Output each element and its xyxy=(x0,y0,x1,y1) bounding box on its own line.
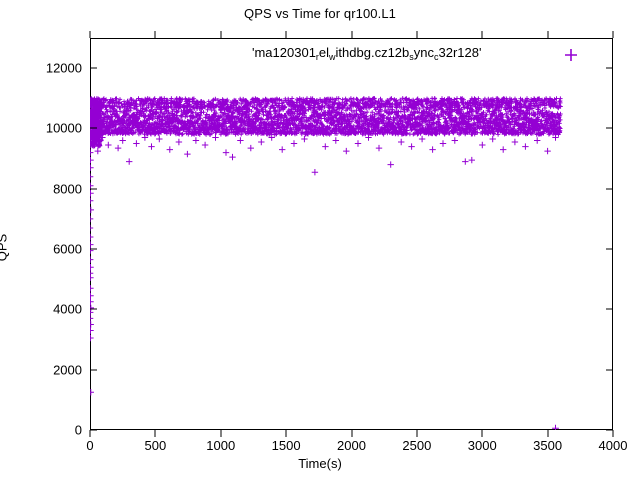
chart-title: QPS vs Time for qr100.L1 xyxy=(0,6,640,21)
x-tick-mark xyxy=(613,430,614,437)
x-tick-mark xyxy=(220,430,221,437)
x-tick-label: 1000 xyxy=(206,438,235,453)
y-axis-label: QPS xyxy=(0,234,10,261)
gnuplot-canvas: QPS vs Time for qr100.L1 020004000600080… xyxy=(0,0,640,480)
y-tick-mark xyxy=(90,430,97,431)
y-tick-mark xyxy=(90,68,97,69)
y-tick-mark xyxy=(90,188,97,189)
x-tick-mark xyxy=(547,31,548,38)
x-tick-mark xyxy=(482,31,483,38)
x-tick-mark xyxy=(90,430,91,437)
x-tick-mark xyxy=(155,31,156,38)
x-tick-mark xyxy=(416,430,417,437)
y-tick-mark xyxy=(606,249,613,250)
x-tick-label: 1500 xyxy=(272,438,301,453)
y-tick-label: 8000 xyxy=(18,181,82,196)
x-tick-label: 3000 xyxy=(468,438,497,453)
x-tick-label: 4000 xyxy=(599,438,628,453)
y-tick-mark xyxy=(606,309,613,310)
y-tick-mark xyxy=(606,128,613,129)
x-tick-mark xyxy=(90,31,91,38)
x-tick-mark xyxy=(286,31,287,38)
y-axis-tick-labels: 020004000600080001000012000 xyxy=(0,38,82,430)
y-tick-label: 4000 xyxy=(18,302,82,317)
x-tick-label: 2000 xyxy=(337,438,366,453)
y-tick-mark xyxy=(90,309,97,310)
scatter-data-layer xyxy=(90,38,613,430)
y-tick-mark xyxy=(606,68,613,69)
x-axis-label: Time(s) xyxy=(0,456,640,471)
y-tick-label: 10000 xyxy=(18,121,82,136)
x-tick-label: 2500 xyxy=(402,438,431,453)
y-tick-label: 12000 xyxy=(18,61,82,76)
x-tick-mark xyxy=(286,430,287,437)
y-tick-label: 6000 xyxy=(18,242,82,257)
x-tick-mark xyxy=(482,430,483,437)
y-tick-mark xyxy=(606,369,613,370)
y-tick-mark xyxy=(90,369,97,370)
x-tick-mark xyxy=(416,31,417,38)
x-tick-label: 500 xyxy=(145,438,167,453)
x-tick-label: 3500 xyxy=(533,438,562,453)
x-tick-mark xyxy=(613,31,614,38)
y-tick-mark xyxy=(606,188,613,189)
x-tick-mark xyxy=(547,430,548,437)
y-tick-mark xyxy=(90,249,97,250)
y-tick-mark xyxy=(90,128,97,129)
y-tick-label: 2000 xyxy=(18,362,82,377)
x-tick-label: 0 xyxy=(86,438,93,453)
x-tick-mark xyxy=(351,430,352,437)
x-tick-mark xyxy=(220,31,221,38)
x-tick-mark xyxy=(155,430,156,437)
x-tick-mark xyxy=(351,31,352,38)
